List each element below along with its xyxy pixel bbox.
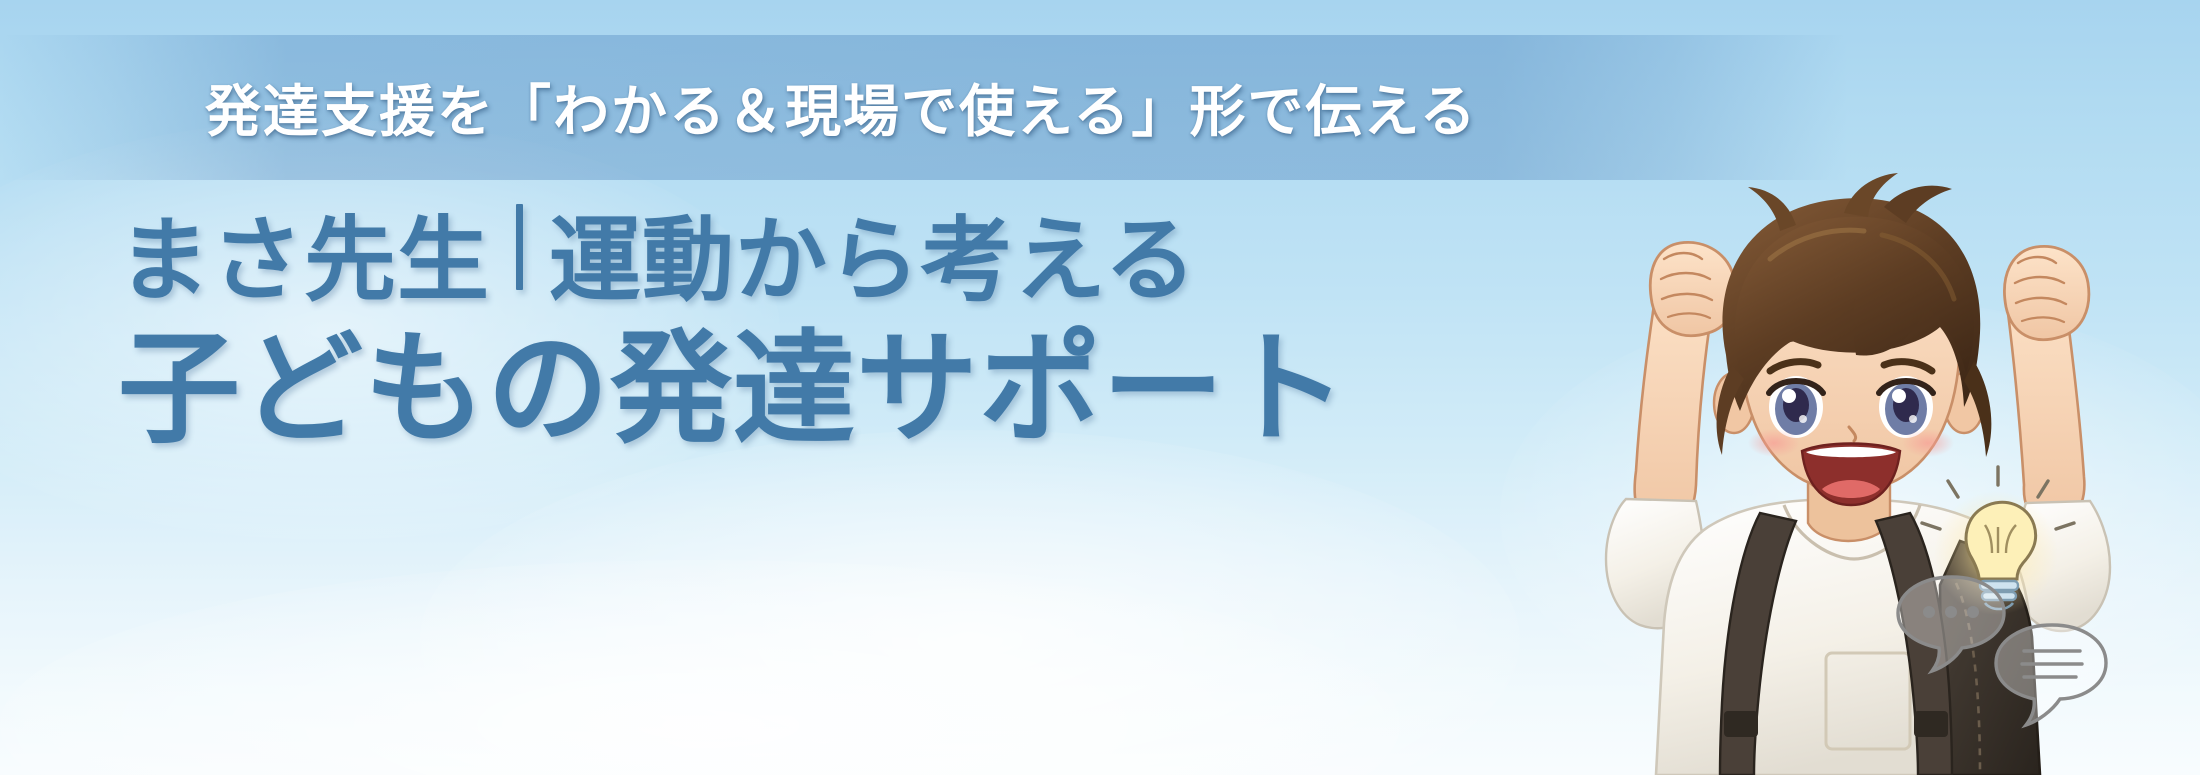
mouth-smile [1802, 444, 1900, 506]
headline-main-title: 子どもの発達サポート [118, 321, 1348, 458]
raised-arm-right [2004, 246, 2110, 631]
site-hero-banner: 発達支援を「わかる＆現場で使える」形で伝える まさ先生 運動から考える 子どもの… [0, 0, 2200, 775]
cheek-left [1748, 429, 1800, 457]
backpack [1720, 513, 2040, 775]
eyebrow-left [1770, 362, 1818, 371]
thought-icons-group [1898, 467, 2106, 725]
hero-illustration [1440, 155, 2200, 775]
headline-line-2: 子どもの発達サポート [118, 321, 1518, 458]
headline-subtitle: 運動から考える [549, 205, 1197, 317]
fist-right-icon [2004, 246, 2088, 339]
tagline-text: 発達支援を「わかる＆現場で使える」形で伝える [205, 67, 1478, 148]
headline-separator-bar [516, 204, 523, 290]
cheek-right [1902, 429, 1954, 457]
backpack-strap-left [1720, 513, 1796, 775]
cloud-wash-right [1500, 300, 2200, 730]
eye-right [1879, 376, 1933, 438]
eyebrow-right [1884, 362, 1932, 371]
backpack-strap-right [1876, 513, 1952, 775]
lightbulb-glow [1934, 491, 2058, 615]
tagline-band: 発達支援を「わかる＆現場で使える」形で伝える [0, 35, 2200, 180]
cloud-wash-center [420, 430, 1520, 775]
eye-left [1769, 376, 1823, 438]
neck [1808, 463, 1890, 541]
speech-bubble-dots-icon [1898, 577, 2004, 671]
hair-back [1722, 198, 1980, 411]
headline-author-name: まさ先生 [118, 205, 490, 317]
strap-buckle-left [1724, 711, 1758, 737]
shirt-pocket [1826, 653, 1910, 749]
nose [1849, 427, 1856, 441]
hair-fringe [1735, 217, 1974, 395]
cloud-wash-bottom [0, 560, 1400, 775]
strap-buckle-right [1914, 711, 1948, 737]
headline-block: まさ先生 運動から考える 子どもの発達サポート [118, 205, 1518, 458]
headline-line-1: まさ先生 運動から考える [118, 205, 1518, 317]
fist-left-icon [1650, 242, 1735, 335]
head [1714, 173, 1991, 505]
speech-bubble-lines-icon [1996, 625, 2106, 725]
lightbulb-icon [1922, 467, 2074, 609]
raised-arm-left [1606, 242, 1735, 628]
body-shirt [1656, 499, 2036, 775]
